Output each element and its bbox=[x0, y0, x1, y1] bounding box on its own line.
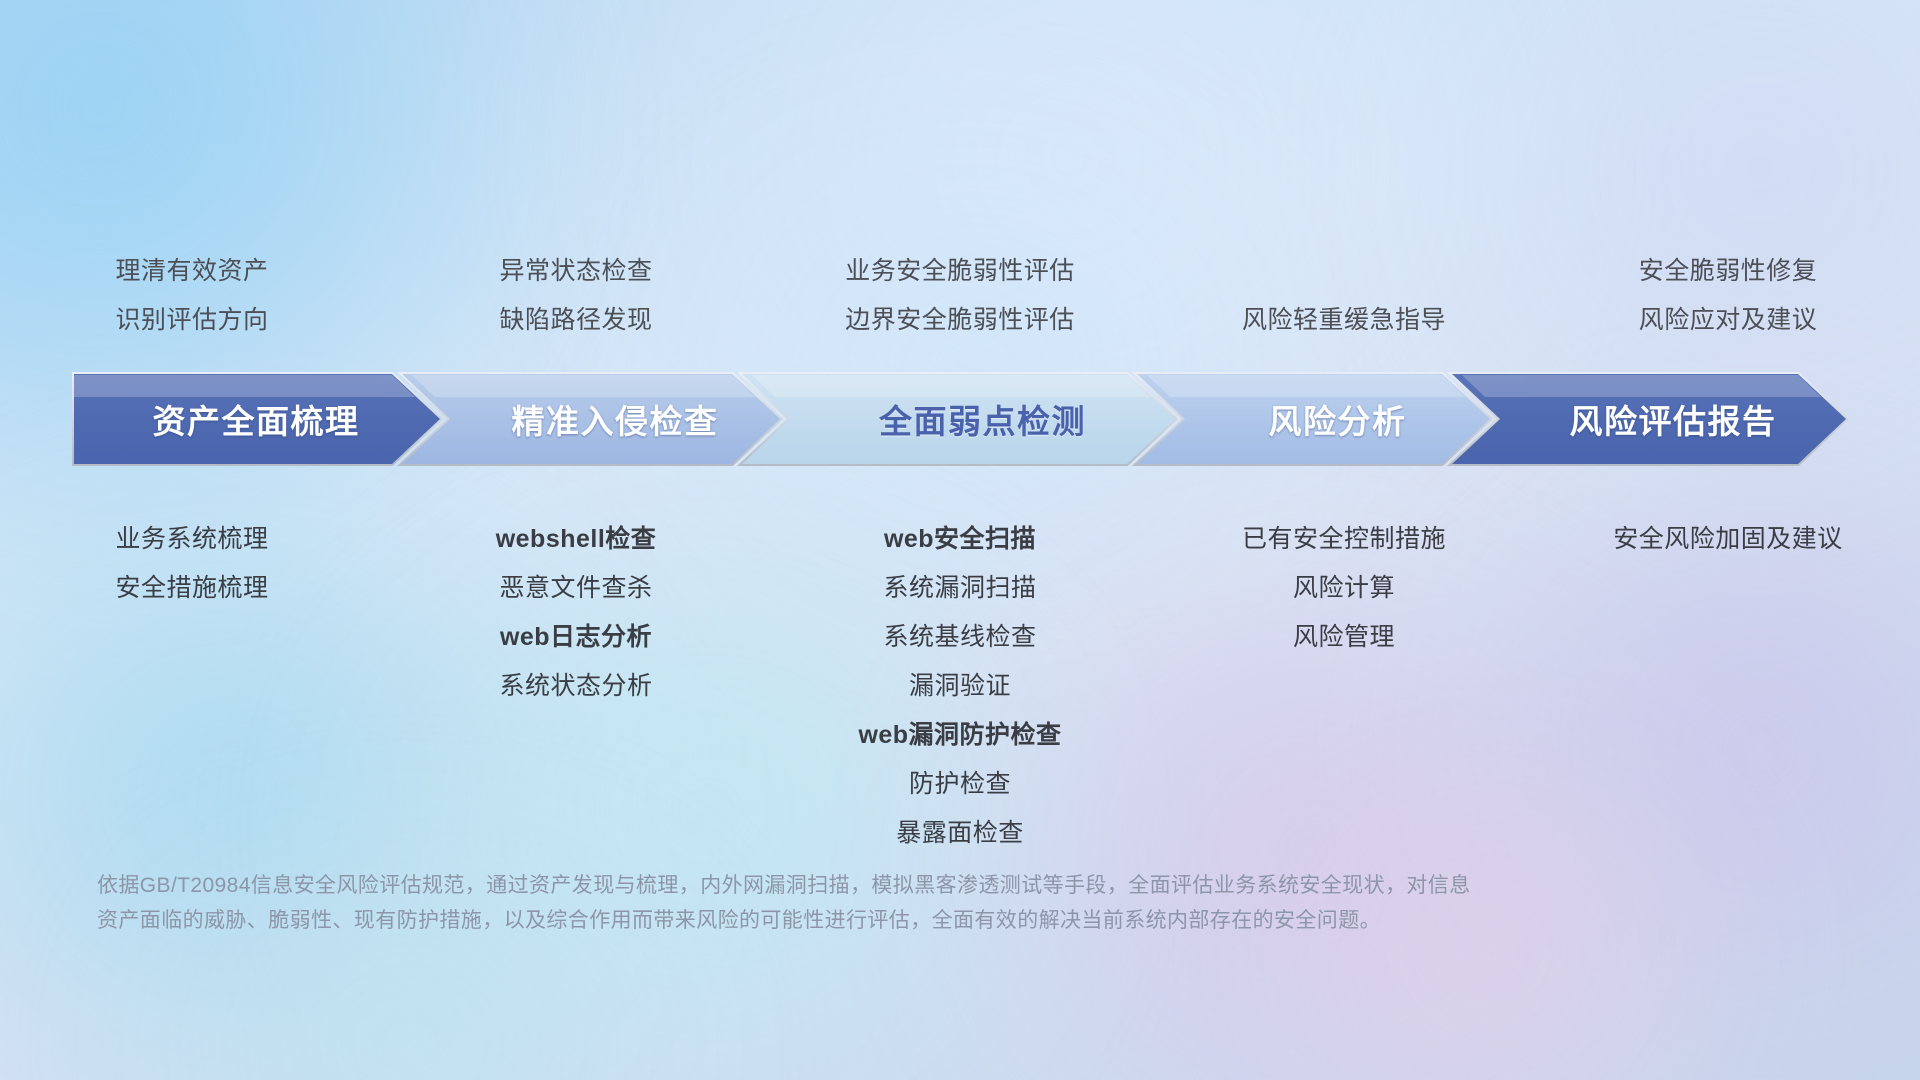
top-caption: 安全脆弱性修复 bbox=[1536, 247, 1920, 296]
list-item: 已有安全控制措施 bbox=[1152, 515, 1536, 564]
list-item: 安全措施梳理 bbox=[0, 564, 384, 613]
top-caption: 理清有效资产 bbox=[0, 247, 384, 296]
top-captions-asset-inventory: 理清有效资产 识别评估方向 bbox=[0, 247, 384, 345]
item-list-weakness-detection: web安全扫描 系统漏洞扫描 系统基线检查 漏洞验证 web漏洞防护检查 防护检… bbox=[768, 515, 1152, 858]
footer-line-2: 资产面临的威胁、脆弱性、现有防护措施，以及综合作用而带来风险的可能性进行评估，全… bbox=[97, 903, 1577, 938]
list-item: 风险管理 bbox=[1152, 613, 1536, 662]
top-caption: 边界安全脆弱性评估 bbox=[768, 296, 1152, 345]
top-captions-weakness-detection: 业务安全脆弱性评估 边界安全脆弱性评估 bbox=[768, 247, 1152, 345]
item-list-risk-analysis: 已有安全控制措施 风险计算 风险管理 bbox=[1152, 515, 1536, 662]
footer-description: 依据GB/T20984信息安全风险评估规范，通过资产发现与梳理，内外网漏洞扫描，… bbox=[97, 868, 1577, 938]
list-item: web安全扫描 bbox=[768, 515, 1152, 564]
top-captions-risk-analysis: 风险轻重缓急指导 bbox=[1152, 296, 1536, 345]
top-caption: 缺陷路径发现 bbox=[384, 296, 768, 345]
list-item: 暴露面检查 bbox=[768, 809, 1152, 858]
top-caption: 识别评估方向 bbox=[0, 296, 384, 345]
list-item: web漏洞防护检查 bbox=[768, 711, 1152, 760]
top-captions-intrusion-check: 异常状态检查 缺陷路径发现 bbox=[384, 247, 768, 345]
list-item: webshell检查 bbox=[384, 515, 768, 564]
list-item: 业务系统梳理 bbox=[0, 515, 384, 564]
list-item: 漏洞验证 bbox=[768, 662, 1152, 711]
list-item: 风险计算 bbox=[1152, 564, 1536, 613]
process-chevron-ribbon: 资产全面梳理 精准入侵检查 全面弱点检测 风险分析 风险评估报告 bbox=[72, 372, 1848, 466]
list-item: web日志分析 bbox=[384, 613, 768, 662]
stage-column-risk-report: 安全脆弱性修复 风险应对及建议 安全风险加固及建议 bbox=[1536, 0, 1920, 1080]
item-list-intrusion-check: webshell检查 恶意文件查杀 web日志分析 系统状态分析 bbox=[384, 515, 768, 711]
top-caption: 风险轻重缓急指导 bbox=[1152, 296, 1536, 345]
list-item: 防护检查 bbox=[768, 760, 1152, 809]
top-caption: 异常状态检查 bbox=[384, 247, 768, 296]
list-item: 安全风险加固及建议 bbox=[1536, 515, 1920, 564]
list-item: 恶意文件查杀 bbox=[384, 564, 768, 613]
list-item: 系统漏洞扫描 bbox=[768, 564, 1152, 613]
chevron-svg bbox=[72, 372, 1848, 466]
list-item: 系统基线检查 bbox=[768, 613, 1152, 662]
chevron-highlight bbox=[74, 375, 1821, 397]
list-item: 系统状态分析 bbox=[384, 662, 768, 711]
item-list-asset-inventory: 业务系统梳理 安全措施梳理 bbox=[0, 515, 384, 613]
top-caption: 风险应对及建议 bbox=[1536, 296, 1920, 345]
top-captions-risk-report: 安全脆弱性修复 风险应对及建议 bbox=[1536, 247, 1920, 345]
item-list-risk-report: 安全风险加固及建议 bbox=[1536, 515, 1920, 564]
slide-canvas: 理清有效资产 识别评估方向 业务系统梳理 安全措施梳理 异常状态检查 缺陷路径发… bbox=[0, 0, 1920, 1080]
top-caption: 业务安全脆弱性评估 bbox=[768, 247, 1152, 296]
footer-line-1: 依据GB/T20984信息安全风险评估规范，通过资产发现与梳理，内外网漏洞扫描，… bbox=[97, 868, 1577, 903]
